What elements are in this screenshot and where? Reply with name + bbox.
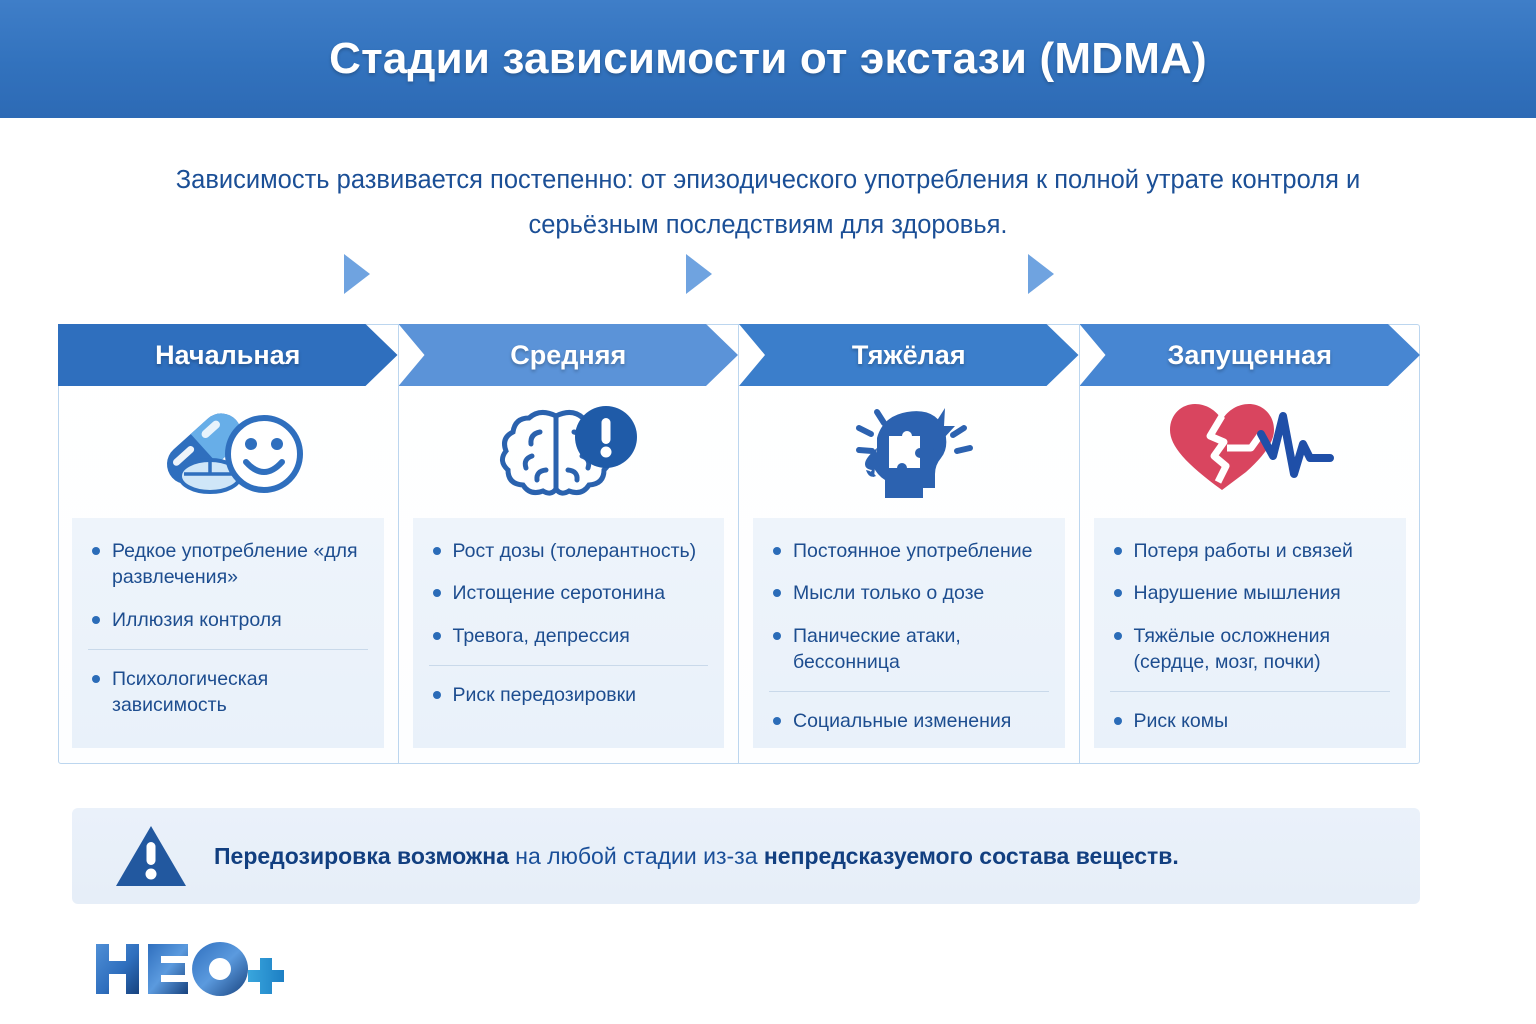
list-item: Панические атаки, бессонница [769, 623, 1049, 676]
warning-text: Передозировка возможна на любой стадии и… [214, 843, 1179, 870]
stage-icon-1 [58, 386, 398, 514]
list-item: Рост дозы (толерантность) [429, 538, 709, 564]
stage-label-2: Средняя [510, 340, 626, 371]
warning-middle: на любой стадии из-за [509, 843, 764, 869]
stage-card-4[interactable]: Запущенная Потеря работы и связей Наруше… [1080, 324, 1421, 764]
broken-heart-ecg-icon [1164, 398, 1336, 502]
brand-logo[interactable] [92, 938, 292, 1000]
list-item: Социальные изменения [769, 691, 1049, 734]
stage-icon-3 [739, 386, 1079, 514]
list-item: Постоянное употребление [769, 538, 1049, 564]
stage-label-1: Начальная [155, 340, 300, 371]
bullet-list-2: Рост дозы (толерантность) Истощение серо… [429, 538, 709, 708]
list-item: Тревога, депрессия [429, 623, 709, 649]
subtitle-text: Зависимость развивается постепенно: от э… [168, 158, 1368, 247]
stage-label-3: Тяжёлая [852, 340, 966, 371]
stage-card-3[interactable]: Тяжёлая [739, 324, 1080, 764]
list-item: Риск комы [1110, 691, 1391, 734]
stage-card-1[interactable]: Начальная [58, 324, 399, 764]
page-title: Стадии зависимости от экстази (MDMA) [329, 34, 1207, 84]
stage-header-1[interactable]: Начальная [58, 324, 398, 386]
list-item: Тяжёлые осложнения (сердце, мозг, почки) [1110, 623, 1391, 676]
warning-triangle-icon [114, 824, 188, 888]
stage-card-2[interactable]: Средняя [399, 324, 740, 764]
warning-banner: Передозировка возможна на любой стадии и… [72, 808, 1420, 904]
bullet-list-4: Потеря работы и связей Нарушение мышлени… [1110, 538, 1391, 735]
list-item: Психологическая зависимость [88, 649, 368, 719]
stage-connector-arrow-3 [1028, 254, 1054, 294]
stage-label-4: Запущенная [1168, 340, 1332, 371]
stage-header-3[interactable]: Тяжёлая [739, 324, 1079, 386]
list-item: Иллюзия контроля [88, 607, 368, 633]
stage-header-2[interactable]: Средняя [399, 324, 739, 386]
warning-bold-tail: непредсказуемого состава веществ. [764, 843, 1179, 869]
list-item: Потеря работы и связей [1110, 538, 1391, 564]
bullet-list-1: Редкое употребление «для развлечения» Ил… [88, 538, 368, 719]
title-bar: Стадии зависимости от экстази (MDMA) [0, 0, 1536, 118]
infographic-page: Стадии зависимости от экстази (MDMA) Зав… [0, 0, 1536, 1024]
stages-container: Начальная [58, 324, 1420, 764]
bullet-list-3: Постоянное употребление Мысли только о д… [769, 538, 1049, 735]
stage-bullets-panel-3: Постоянное употребление Мысли только о д… [753, 518, 1065, 748]
stage-icon-4 [1080, 386, 1421, 514]
list-item: Мысли только о дозе [769, 580, 1049, 606]
pills-smiley-icon [144, 398, 312, 502]
list-item: Истощение серотонина [429, 580, 709, 606]
stage-connector-arrow-2 [686, 254, 712, 294]
stage-icon-2 [399, 386, 739, 514]
stage-connector-arrow-1 [344, 254, 370, 294]
stage-bullets-panel-1: Редкое употребление «для развлечения» Ил… [72, 518, 384, 748]
list-item: Редкое употребление «для развлечения» [88, 538, 368, 591]
warning-bold-lead: Передозировка возможна [214, 843, 509, 869]
stage-header-4[interactable]: Запущенная [1080, 324, 1421, 386]
list-item: Риск передозировки [429, 665, 709, 708]
brain-alert-icon [488, 398, 648, 502]
head-puzzle-lightning-icon [833, 398, 985, 502]
stage-bullets-panel-2: Рост дозы (толерантность) Истощение серо… [413, 518, 725, 748]
neo-plus-logo-icon [92, 938, 292, 1000]
stage-bullets-panel-4: Потеря работы и связей Нарушение мышлени… [1094, 518, 1407, 748]
list-item: Нарушение мышления [1110, 580, 1391, 606]
